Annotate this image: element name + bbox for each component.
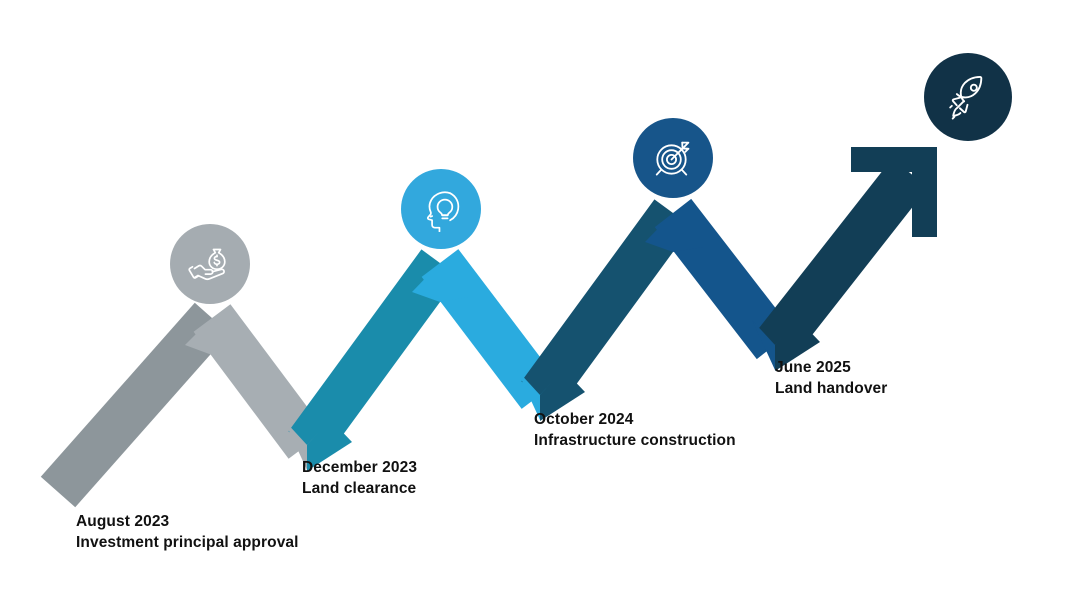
- milestone-date: June 2025: [775, 358, 887, 379]
- milestone-icon-land-handover[interactable]: [924, 53, 1012, 141]
- diagram-canvas: August 2023 Investment principal approva…: [0, 0, 1077, 598]
- milestone-date: August 2023: [76, 512, 299, 533]
- milestone-label-infrastructure-construction: October 2024 Infrastructure construction: [534, 410, 736, 451]
- milestone-date: October 2024: [534, 410, 736, 431]
- arrow-segment-4-up: [775, 173, 910, 345]
- milestone-description: Investment principal approval: [76, 533, 299, 554]
- milestone-icon-land-clearance[interactable]: [401, 169, 481, 249]
- growth-arrow-graphic: [0, 0, 1077, 598]
- milestone-icon-investment-principal-approval[interactable]: [170, 224, 250, 304]
- money-bag-in-hand-icon: [186, 240, 234, 288]
- rocket-launch-icon: [943, 72, 993, 122]
- milestone-label-investment-principal-approval: August 2023 Investment principal approva…: [76, 512, 299, 553]
- milestone-description: Land clearance: [302, 479, 417, 500]
- milestone-label-land-handover: June 2025 Land handover: [775, 358, 887, 399]
- milestone-description: Land handover: [775, 379, 887, 400]
- target-bullseye-arrow-icon: [649, 134, 697, 182]
- milestone-date: December 2023: [302, 458, 417, 479]
- milestone-label-land-clearance: December 2023 Land clearance: [302, 458, 417, 499]
- head-lightbulb-idea-icon: [418, 186, 464, 232]
- milestone-description: Infrastructure construction: [534, 431, 736, 452]
- milestone-icon-infrastructure-construction[interactable]: [633, 118, 713, 198]
